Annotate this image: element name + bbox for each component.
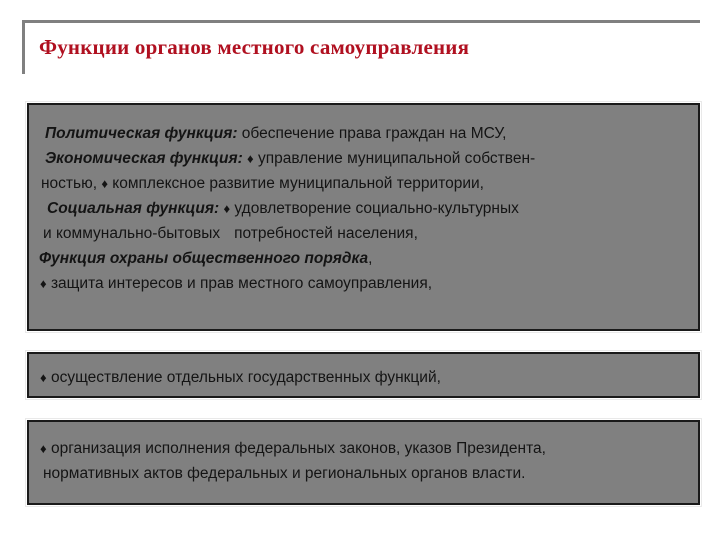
- content-box-main: Политическая функция: обеспечение права …: [27, 103, 700, 331]
- diamond-bullet-icon: ♦: [40, 276, 47, 291]
- list-item-prefix: и коммунально-бытовых: [43, 225, 220, 242]
- list-item-text: комплексное развитие муниципальной терри…: [108, 175, 484, 192]
- list-item-prefix: ностью,: [41, 175, 101, 192]
- content-box-third: ♦ организация исполнения федеральных зак…: [27, 420, 700, 505]
- content-lines-main: Политическая функция: обеспечение права …: [29, 105, 698, 296]
- list-item: ♦ осуществление отдельных государственны…: [37, 365, 690, 390]
- content-lines-second: ♦ осуществление отдельных государственны…: [29, 354, 698, 390]
- list-item-text: осуществление отдельных государственных …: [47, 369, 441, 386]
- list-item-text: защита интересов и прав местного самоупр…: [47, 275, 432, 292]
- list-item: Политическая функция: обеспечение права …: [37, 121, 690, 146]
- list-item: ♦ организация исполнения федеральных зак…: [37, 436, 690, 461]
- list-item: ностью, ♦ комплексное развитие муниципал…: [37, 171, 690, 196]
- diamond-bullet-icon: ♦: [40, 441, 47, 456]
- list-item: нормативных актов федеральных и регионал…: [37, 461, 690, 486]
- list-item: Функция охраны общественного порядка,: [37, 246, 690, 271]
- function-label-public-order: Функция охраны общественного порядка: [39, 250, 368, 267]
- presentation-slide: Функции органов местного самоуправления …: [0, 0, 720, 540]
- function-label-economic: Экономическая функция:: [45, 150, 243, 167]
- slide-title-block: Функции органов местного самоуправления: [22, 20, 700, 74]
- list-item: ♦ защита интересов и прав местного самоу…: [37, 271, 690, 296]
- content-lines-third: ♦ организация исполнения федеральных зак…: [29, 422, 698, 486]
- list-item-text: организация исполнения федеральных закон…: [47, 440, 546, 457]
- list-item: Экономическая функция: ♦ управление муни…: [37, 146, 690, 171]
- list-item-text: нормативных актов федеральных и регионал…: [43, 465, 525, 482]
- list-item-text: обеспечение права граждан на МСУ,: [237, 125, 506, 142]
- list-item-text: потребностей населения,: [234, 225, 418, 242]
- function-label-political: Политическая функция:: [45, 125, 237, 142]
- content-box-second: ♦ осуществление отдельных государственны…: [27, 352, 700, 398]
- function-label-social: Социальная функция:: [47, 200, 219, 217]
- list-item: и коммунально-бытовыхпотребностей населе…: [37, 221, 690, 246]
- page-title: Функции органов местного самоуправления: [39, 35, 469, 60]
- list-item-text: ,: [368, 250, 372, 267]
- diamond-bullet-icon: ♦: [40, 370, 47, 385]
- list-item: Социальная функция: ♦ удовлетворение соц…: [37, 196, 690, 221]
- diamond-bullet-icon: ♦: [247, 151, 254, 166]
- list-item-text: удовлетворение социально-культурных: [230, 200, 519, 217]
- diamond-bullet-icon: ♦: [101, 176, 108, 191]
- list-item-text: управление муниципальной собствен-: [254, 150, 536, 167]
